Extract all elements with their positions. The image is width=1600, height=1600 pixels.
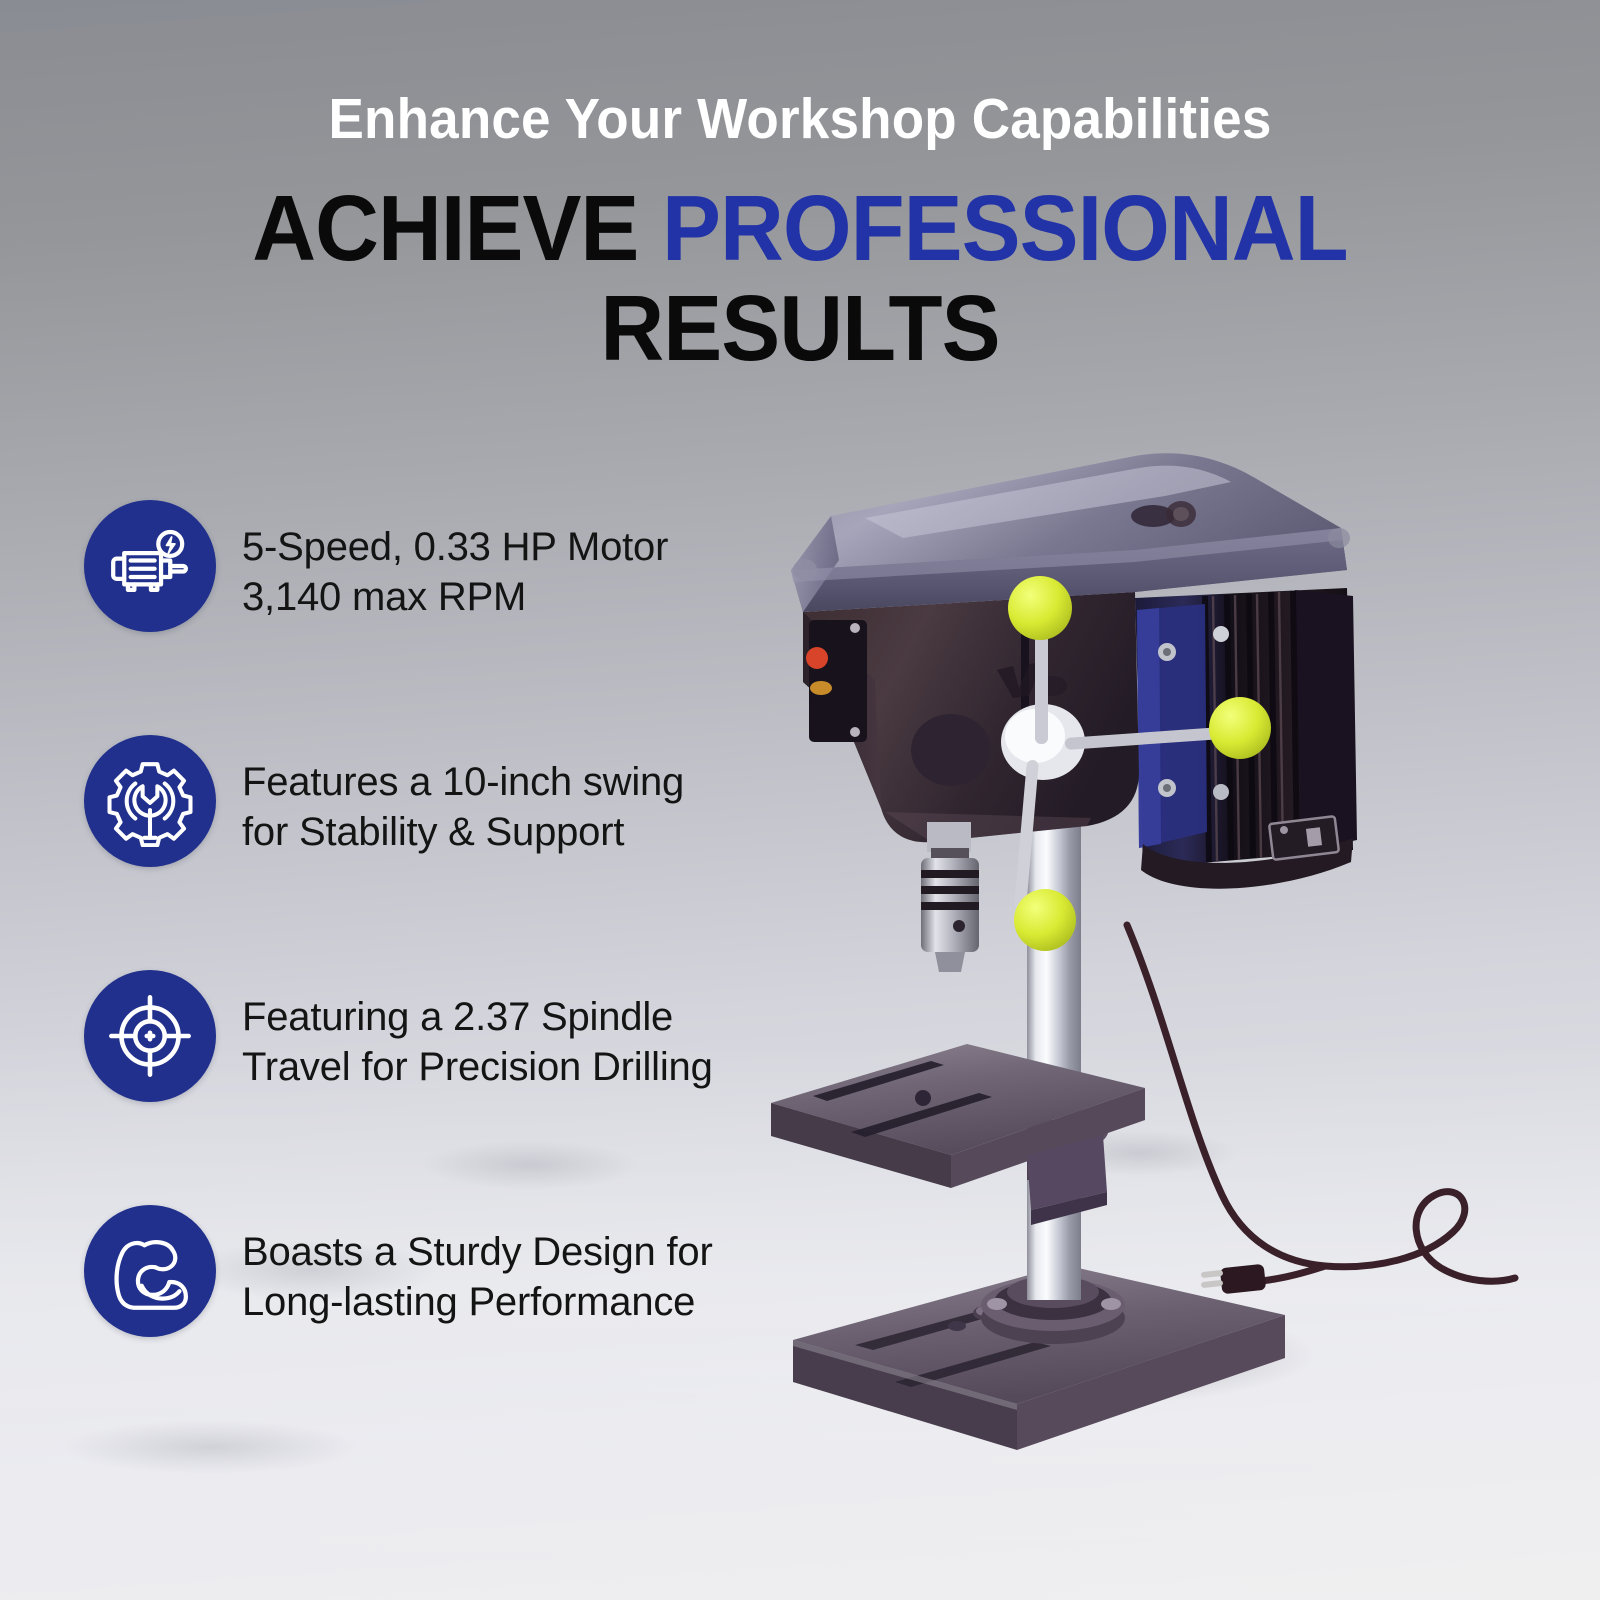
drill-press-illustration [735, 420, 1555, 1500]
handle-knob-top [1008, 576, 1072, 640]
flexed-bicep-icon [104, 1225, 196, 1317]
handle-knob-right [1209, 697, 1271, 759]
headline-line-1: ACHIEVE PROFESSIONAL [40, 178, 1560, 278]
electric-motor-icon [104, 520, 196, 612]
feature-item: 5-Speed, 0.33 HP Motor 3,140 max RPM [84, 500, 784, 735]
feature-text: Features a 10-inch swing for Stability &… [242, 757, 782, 857]
product-image-drill-press [735, 420, 1555, 1500]
feature-badge [84, 500, 216, 632]
feature-text: Boasts a Sturdy Design for Long-lasting … [242, 1227, 782, 1327]
drill-chuck [921, 822, 979, 972]
feature-line-1: 5-Speed, 0.33 HP Motor [242, 522, 782, 572]
feature-line-2: 3,140 max RPM [242, 572, 782, 622]
eyebrow-heading: Enhance Your Workshop Capabilities [56, 86, 1544, 152]
feature-item: Featuring a 2.37 Spindle Travel for Prec… [84, 970, 784, 1205]
feature-badge [84, 1205, 216, 1337]
work-table [771, 1044, 1145, 1225]
feature-line-1: Features a 10-inch swing [242, 757, 782, 807]
power-plug [1201, 1264, 1266, 1294]
head-casting [803, 592, 1139, 842]
main-headline: ACHIEVE PROFESSIONAL RESULTS [40, 178, 1560, 378]
headline-line-2: RESULTS [40, 278, 1560, 378]
gear-wrench-icon [104, 755, 196, 847]
feature-text: Featuring a 2.37 Spindle Travel for Prec… [242, 992, 782, 1092]
feature-line-2: Travel for Precision Drilling [242, 1042, 782, 1092]
headline-accent-text: PROFESSIONAL [662, 176, 1348, 280]
crosshair-target-icon [104, 990, 196, 1082]
power-cord [1127, 925, 1515, 1282]
feature-line-1: Featuring a 2.37 Spindle [242, 992, 782, 1042]
headline-plain-text: ACHIEVE [252, 176, 662, 280]
feature-list: 5-Speed, 0.33 HP Motor 3,140 max RPM [84, 500, 784, 1440]
feature-item: Features a 10-inch swing for Stability &… [84, 735, 784, 970]
pulley-cover [791, 453, 1350, 612]
handle-knob-bottom [1014, 889, 1076, 951]
feature-text: 5-Speed, 0.33 HP Motor 3,140 max RPM [242, 522, 782, 622]
feature-line-2: Long-lasting Performance [242, 1277, 782, 1327]
feature-line-1: Boasts a Sturdy Design for [242, 1227, 782, 1277]
feature-badge [84, 970, 216, 1102]
feature-item: Boasts a Sturdy Design for Long-lasting … [84, 1205, 784, 1440]
feature-line-2: for Stability & Support [242, 807, 782, 857]
feature-badge [84, 735, 216, 867]
promo-canvas: Enhance Your Workshop Capabilities ACHIE… [0, 0, 1600, 1600]
